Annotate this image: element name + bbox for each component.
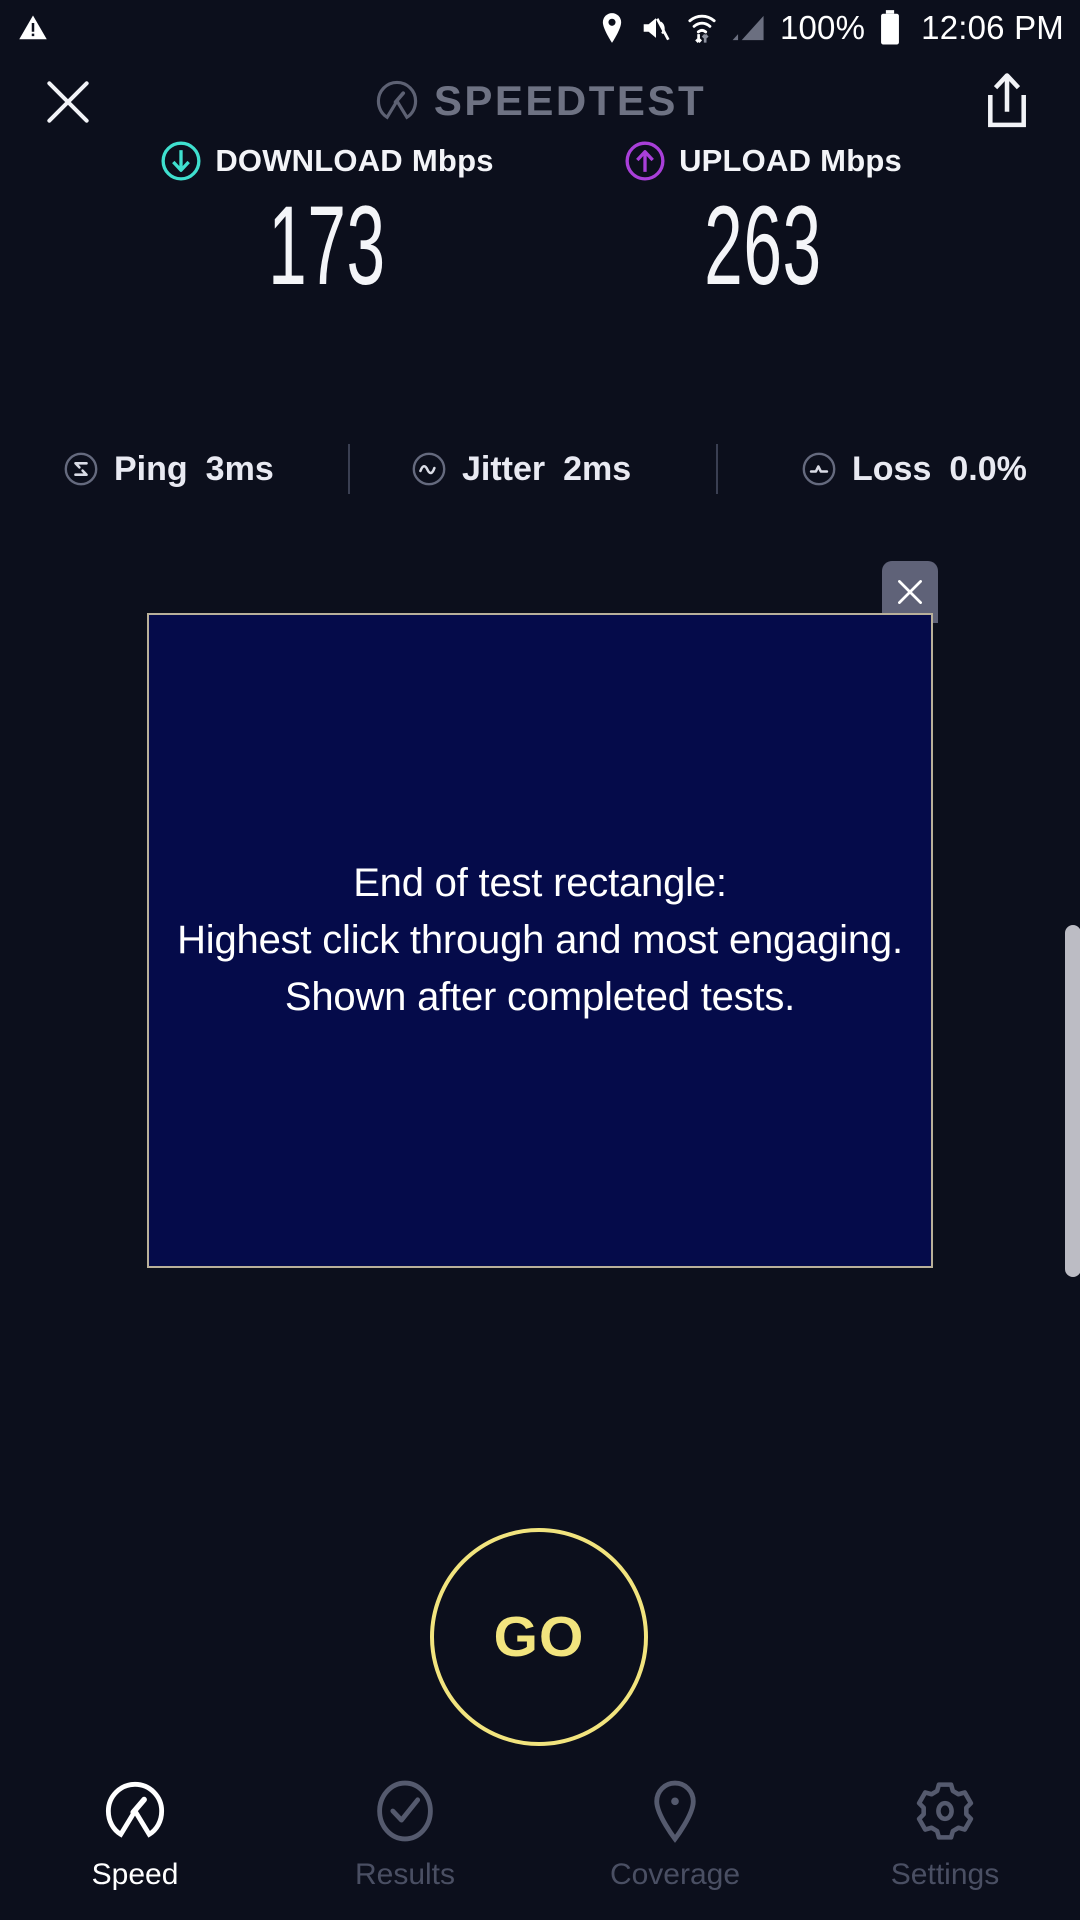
download-header: DOWNLOAD Mbps	[160, 138, 493, 184]
metric-jitter-name: Jitter	[462, 450, 545, 489]
go-button-label: GO	[494, 1604, 585, 1670]
upload-label-text: UPLOAD	[679, 143, 811, 179]
metric-jitter: Jitter 2ms	[410, 450, 631, 489]
metrics-row: Ping 3ms Jitter 2ms	[0, 438, 1080, 500]
ad-text-line-1: End of test rectangle:	[177, 855, 903, 912]
nav-label-speed: Speed	[92, 1858, 179, 1892]
metric-loss: Loss 0.0%	[800, 450, 1027, 489]
nav-label-results: Results	[355, 1858, 455, 1892]
gear-icon	[912, 1778, 978, 1844]
upload-result: UPLOAD Mbps 263	[583, 138, 943, 304]
loss-icon	[800, 450, 838, 488]
brand-title: SPEEDTEST	[434, 77, 706, 125]
speedtest-app-screen: 100% 12:06 PM SPEEDTEST	[0, 0, 1080, 1920]
battery-percent: 100%	[780, 9, 865, 47]
metric-ping-name: Ping	[114, 450, 188, 489]
speedometer-icon	[374, 78, 420, 124]
upload-header: UPLOAD Mbps	[624, 138, 902, 184]
warning-triangle-icon	[18, 13, 48, 43]
upload-unit: Mbps	[820, 143, 902, 179]
metric-ping-value: 3ms	[206, 450, 274, 489]
location-pin-icon	[642, 1778, 708, 1844]
check-circle-icon	[372, 1778, 438, 1844]
app-header: SPEEDTEST	[0, 56, 1080, 144]
go-button[interactable]: GO	[430, 1528, 648, 1746]
metric-jitter-value: 2ms	[563, 450, 631, 489]
bottom-navigation: Speed Results Coverage	[0, 1760, 1080, 1920]
brand-logo: SPEEDTEST	[0, 70, 1080, 132]
metric-ping: Ping 3ms	[62, 450, 274, 489]
metric-divider-1	[348, 444, 350, 494]
download-value: 173	[268, 188, 386, 304]
status-bar-left	[18, 13, 48, 43]
jitter-icon	[410, 450, 448, 488]
download-label: DOWNLOAD Mbps	[215, 143, 493, 179]
download-result: DOWNLOAD Mbps 173	[147, 138, 507, 304]
nav-item-coverage[interactable]: Coverage	[540, 1760, 810, 1920]
cell-signal-icon	[732, 13, 766, 43]
download-unit: Mbps	[412, 143, 494, 179]
ad-text-line-3: Shown after completed tests.	[177, 969, 903, 1026]
battery-full-icon	[879, 10, 901, 46]
advertisement-banner[interactable]: End of test rectangle: Highest click thr…	[147, 613, 933, 1268]
location-pin-icon	[598, 12, 626, 44]
ad-text: End of test rectangle: Highest click thr…	[177, 855, 903, 1025]
ping-icon	[62, 450, 100, 488]
speedometer-icon	[102, 1778, 168, 1844]
arrow-down-circle-icon	[160, 140, 202, 182]
nav-item-speed[interactable]: Speed	[0, 1760, 270, 1920]
ad-text-line-2: Highest click through and most engaging.	[177, 912, 903, 969]
wifi-data-icon	[686, 11, 718, 45]
volume-mute-icon	[640, 13, 672, 43]
metric-loss-name: Loss	[852, 450, 931, 489]
nav-label-coverage: Coverage	[610, 1858, 740, 1892]
upload-label: UPLOAD Mbps	[679, 143, 902, 179]
download-label-text: DOWNLOAD	[215, 143, 403, 179]
result-summary: DOWNLOAD Mbps 173 UP	[0, 138, 1080, 304]
nav-label-settings: Settings	[891, 1858, 999, 1892]
status-bar-clock: 12:06 PM	[921, 9, 1064, 47]
metric-divider-2	[716, 444, 718, 494]
share-button[interactable]	[978, 70, 1036, 132]
upload-value: 263	[704, 188, 822, 304]
nav-item-settings[interactable]: Settings	[810, 1760, 1080, 1920]
download-upload-row: DOWNLOAD Mbps 173 UP	[0, 138, 1080, 304]
page-scrollbar[interactable]	[1065, 925, 1080, 1277]
status-bar-right: 100% 12:06 PM	[598, 9, 1064, 47]
metric-loss-value: 0.0%	[949, 450, 1027, 489]
status-bar: 100% 12:06 PM	[0, 0, 1080, 56]
nav-item-results[interactable]: Results	[270, 1760, 540, 1920]
arrow-up-circle-icon	[624, 140, 666, 182]
